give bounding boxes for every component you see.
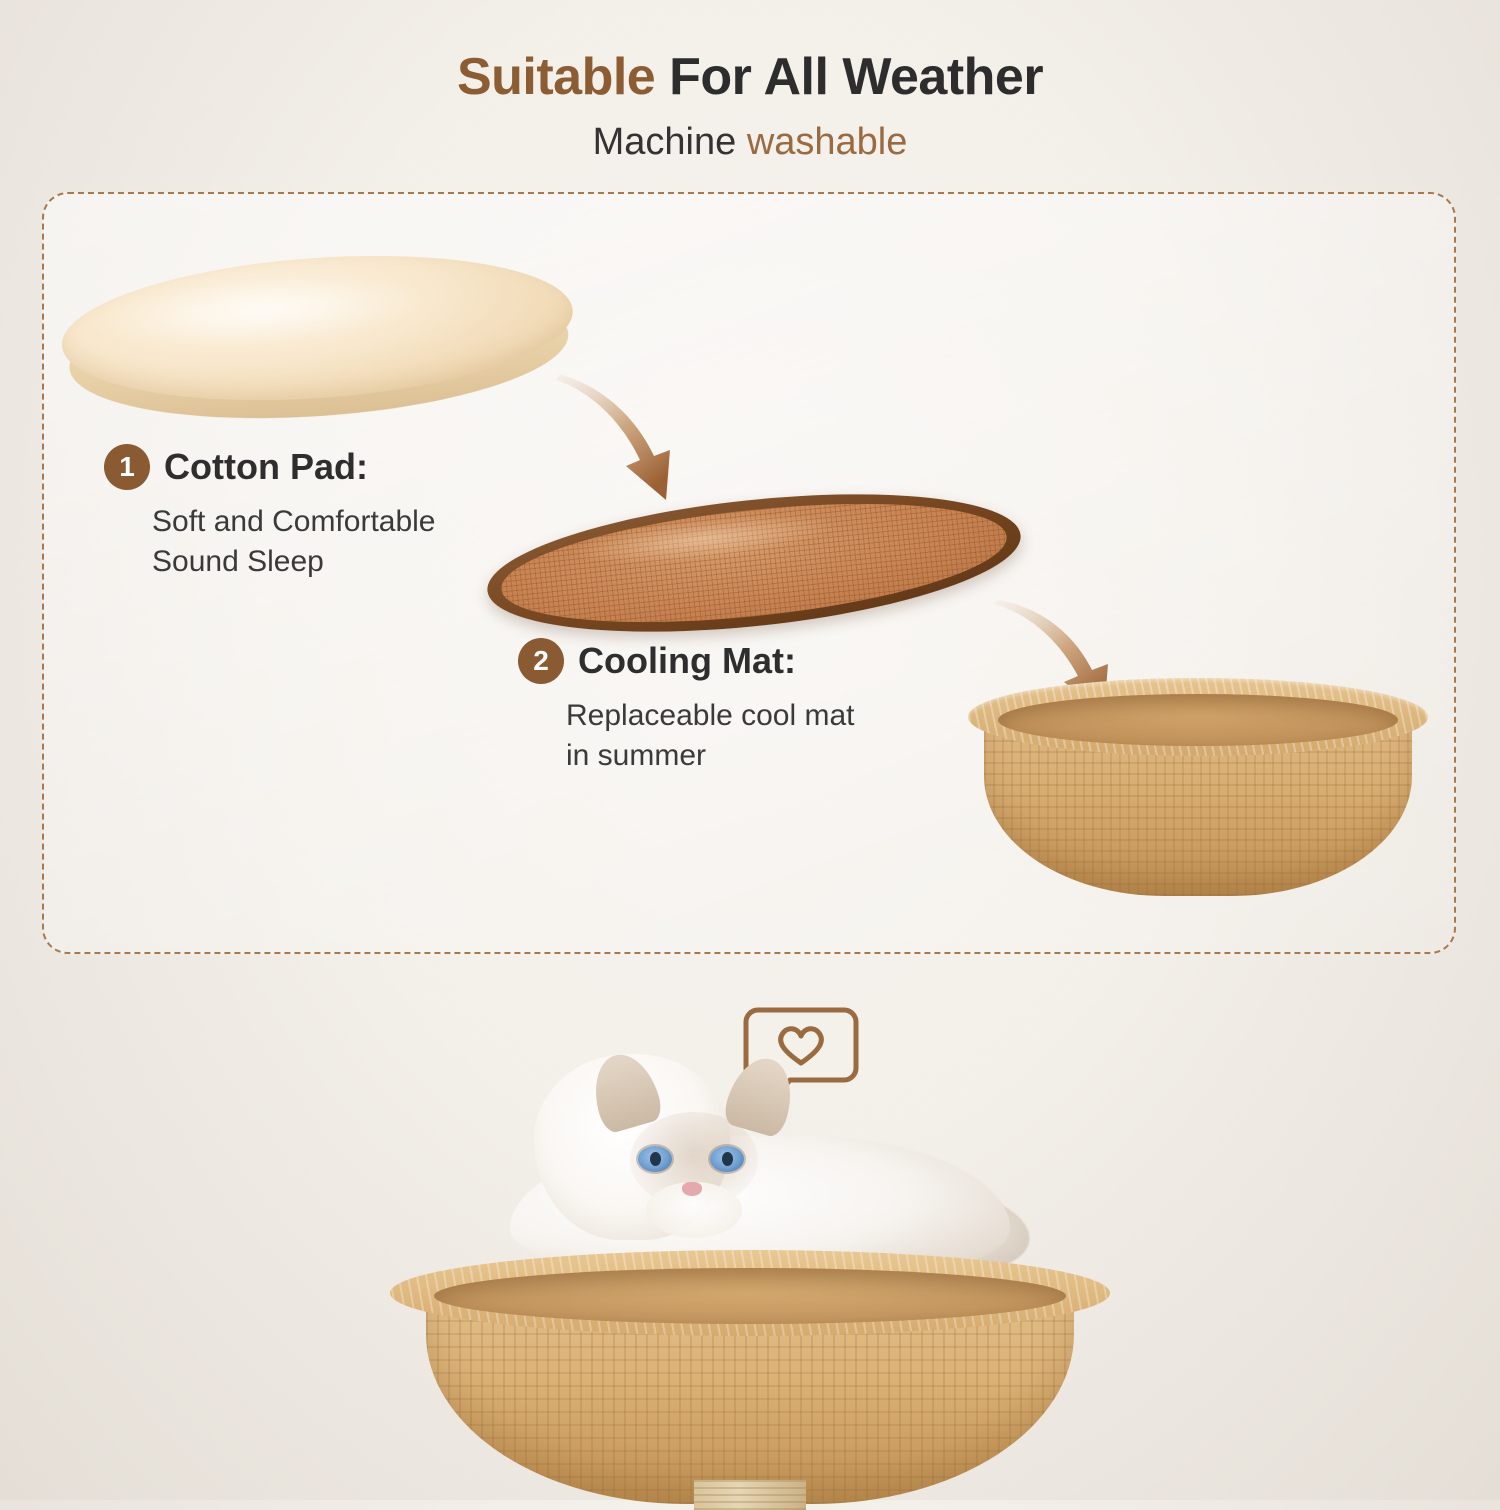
- cat-eye-right: [710, 1146, 744, 1172]
- cat-bed-interior: [434, 1268, 1066, 1324]
- callout-cotton-pad-head: 1 Cotton Pad:: [104, 444, 436, 490]
- cat-bed-photo: [390, 1250, 1110, 1500]
- callout-title-1: Cotton Pad:: [164, 446, 368, 488]
- product-photo-scene: [0, 1010, 1500, 1500]
- cat-tree-post: [694, 1480, 806, 1510]
- arrow-pad-to-mat-icon: [548, 374, 688, 529]
- page-subtitle-accent: washable: [747, 121, 908, 163]
- callout-cooling-mat: 2 Cooling Mat: Replaceable cool mat in s…: [518, 638, 855, 775]
- cat-head: [534, 1054, 730, 1240]
- page-subtitle: Machine washable: [0, 120, 1500, 166]
- header: Suitable For All Weather Machine washabl…: [0, 48, 1500, 166]
- cat-photo: [470, 1040, 1030, 1280]
- callout-title-2: Cooling Mat:: [578, 640, 796, 682]
- callout-badge-1: 1: [104, 444, 150, 490]
- callout-cotton-pad: 1 Cotton Pad: Soft and Comfortable Sound…: [104, 444, 436, 581]
- callout-description-2: Replaceable cool mat in summer: [566, 696, 855, 775]
- cat-pupil-right: [722, 1152, 733, 1166]
- callout-description-1: Soft and Comfortable Sound Sleep: [152, 502, 436, 581]
- cat-nose: [682, 1182, 702, 1196]
- cat-eye-left: [638, 1146, 672, 1172]
- page-subtitle-dark: Machine: [593, 121, 747, 163]
- page-title-rest: For All Weather: [669, 48, 1043, 106]
- woven-basket-interior: [998, 694, 1398, 746]
- callout-cooling-mat-head: 2 Cooling Mat:: [518, 638, 855, 684]
- woven-basket-illustration: [968, 678, 1428, 910]
- cat-pupil-left: [650, 1152, 661, 1166]
- page-title-accent: Suitable: [457, 48, 669, 106]
- callout-badge-2: 2: [518, 638, 564, 684]
- page-title: Suitable For All Weather: [0, 48, 1500, 106]
